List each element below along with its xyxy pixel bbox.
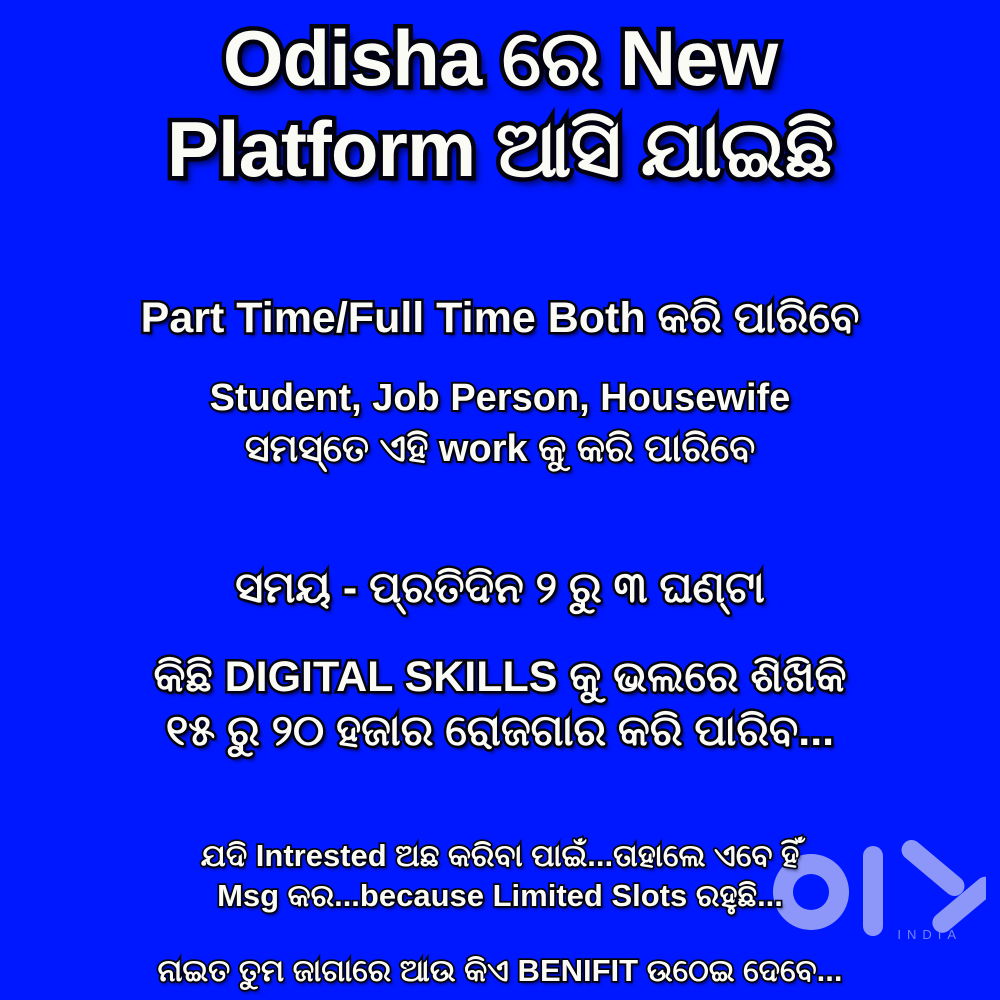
skills-group: କିଛି DIGITAL SKILLS କୁ ଭଲରେ ଶିଖିକି ୧୫ ରୁ… xyxy=(154,655,847,754)
cta-group: ଯଦି Intrested ଅଛ କରିବା ପାଇଁ...ତାହାଲେ ଏବେ… xyxy=(201,840,799,912)
headline-line-1: Odisha ରେ New xyxy=(167,18,833,99)
audience-line-2: ସମସ୍ତେ ଏହି work କୁ କରି ପାରିବେ xyxy=(210,430,791,470)
urgency-group: ନାଇତ ତୁମ ଜାଗାରେ ଆଉ କିଏ BENIFIT ଉଠେଇ ଦେବେ… xyxy=(157,955,842,987)
time-line-1: ସମୟ - ପ୍ରତିଦିନ ୨ ରୁ ୩ ଘଣ୍ଟା xyxy=(235,566,765,611)
urgency-line-1: ନାଇତ ତୁମ ଜାଗାରେ ଆଉ କିଏ BENIFIT ଉଠେଇ ଦେବେ… xyxy=(157,955,842,987)
headline-line-2: Platform ଆସି ଯାଇଛି xyxy=(167,109,833,190)
poster-canvas: INDIA Odisha ରେ New Platform ଆସି ଯାଇଛି P… xyxy=(0,0,1000,1000)
poster-text-content: Odisha ରେ New Platform ଆସି ଯାଇଛି Part Ti… xyxy=(0,0,1000,1000)
time-group: ସମୟ - ପ୍ରତିଦିନ ୨ ରୁ ୩ ଘଣ୍ଟା xyxy=(235,566,765,611)
cta-line-2: Msg କର...because Limited Slots ରହୁଛି... xyxy=(201,880,799,912)
headline-group: Odisha ରେ New Platform ଆସି ଯାଇଛି xyxy=(167,18,833,190)
parttime-group: Part Time/Full Time Both କରି ପାରିବେ xyxy=(141,296,860,341)
cta-line-1: ଯଦି Intrested ଅଛ କରିବା ପାଇଁ...ତାହାଲେ ଏବେ… xyxy=(201,840,799,872)
audience-group: Student, Job Person, Housewife ସମସ୍ତେ ଏହ… xyxy=(210,379,791,470)
parttime-line-1: Part Time/Full Time Both କରି ପାରିବେ xyxy=(141,296,860,341)
skills-line-1: କିଛି DIGITAL SKILLS କୁ ଭଲରେ ଶିଖିକି xyxy=(154,655,847,700)
skills-line-2: ୧୫ ରୁ ୨୦ ହଜାର ରୋଜଗାର କରି ପାରିବ... xyxy=(154,709,847,754)
audience-line-1: Student, Job Person, Housewife xyxy=(210,379,791,419)
